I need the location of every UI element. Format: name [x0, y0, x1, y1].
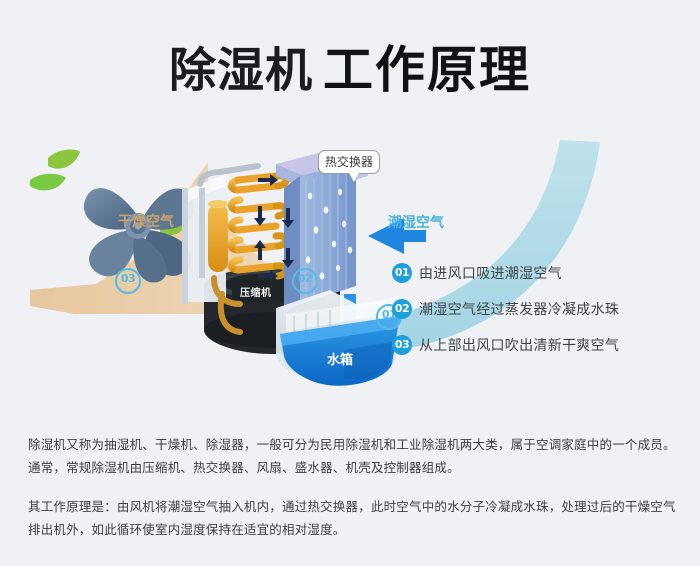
legend-badge-03: 03 [392, 335, 412, 355]
legend-text-01: 由进风口吸进潮湿空气 [419, 263, 562, 283]
legend-item-01: 01 由进风口吸进潮湿空气 [392, 255, 692, 291]
paragraph-2: 其工作原理是：由风机将潮湿空气抽入机内，通过热交换器，此时空气中的水分子冷凝成水… [28, 495, 678, 541]
marker-ring-dry-air: 03 [115, 268, 141, 294]
legend-text-02: 潮湿空气经过蒸发器冷凝成水珠 [419, 299, 619, 319]
title-primary: 除湿机 [169, 44, 313, 99]
legend-item-02: 02 潮湿空气经过蒸发器冷凝成水珠 [392, 291, 692, 327]
page-title: 除湿机工作原理 [0, 30, 700, 102]
legend-text-03: 从上部出风口吹出清新干爽空气 [419, 335, 619, 355]
water-tank-label: 水箱 [327, 349, 353, 368]
humid-air-label: 潮湿空气 [388, 212, 444, 232]
legend-item-03: 03 从上部出风口吹出清新干爽空气 [392, 327, 692, 363]
heat-exchanger-callout: 热交换器 [318, 150, 380, 174]
marker-ring-heat-exchanger: 02 [292, 268, 318, 294]
legend-list: 01 由进风口吸进潮湿空气 02 潮湿空气经过蒸发器冷凝成水珠 03 从上部出风… [392, 255, 692, 363]
compressor-label: 压缩机 [240, 284, 272, 299]
paragraph-1: 除湿机又称为抽湿机、干燥机、除湿器，一般可分为民用除湿机和工业除湿机两大类，属于… [28, 433, 678, 479]
title-secondary: 工作原理 [323, 41, 531, 99]
legend-badge-01: 01 [392, 263, 412, 283]
body-copy: 除湿机又称为抽湿机、干燥机、除湿器，一般可分为民用除湿机和工业除湿机两大类，属于… [28, 420, 678, 553]
legend-badge-02: 02 [392, 299, 412, 319]
page-root: 除湿机工作原理 [0, 0, 700, 566]
dry-air-label: 干燥空气 [118, 211, 174, 231]
